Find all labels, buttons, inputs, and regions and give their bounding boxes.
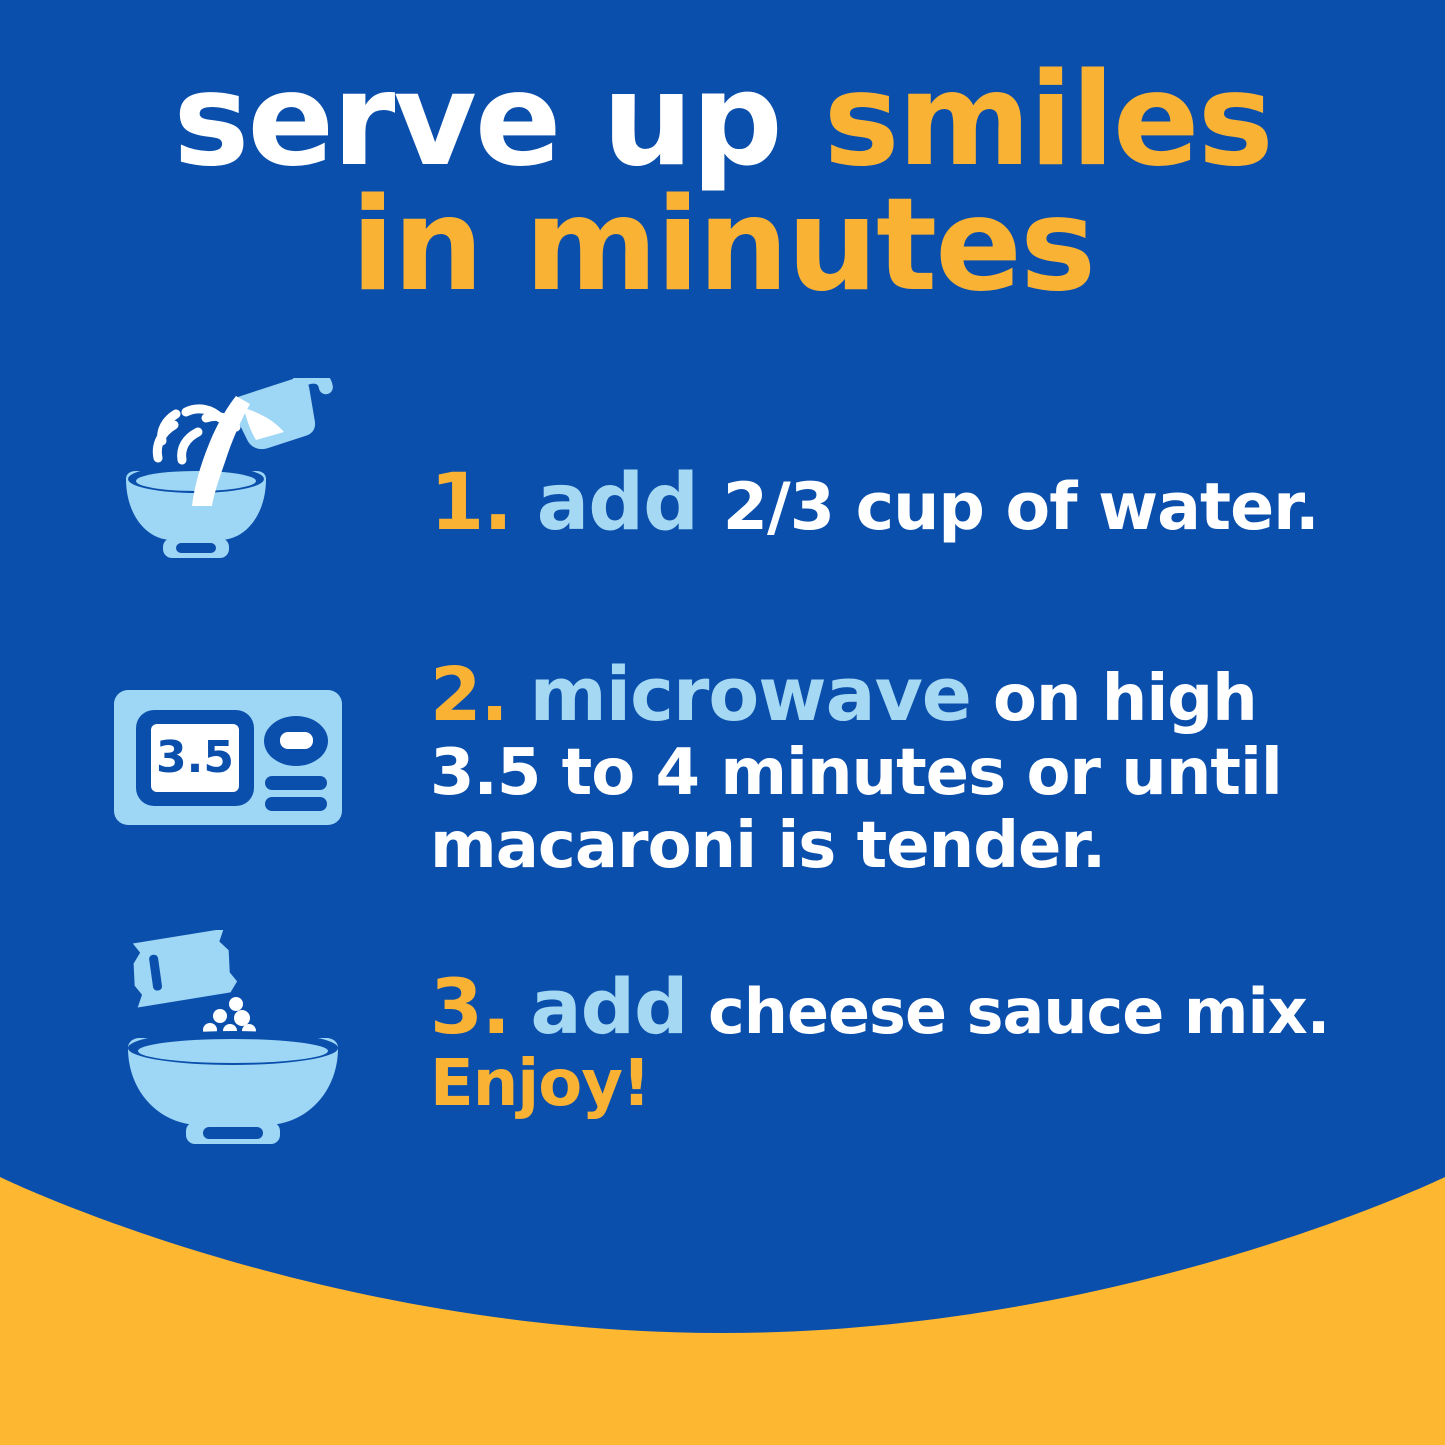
- step-1: 1. add 2/3 cup of water.: [0, 378, 1445, 593]
- page-title: serve up smiles in minutes: [0, 58, 1445, 309]
- headline-line-2: in minutes: [0, 183, 1445, 308]
- bottom-yellow-wave: [0, 1145, 1445, 1445]
- step-3-tail: Enjoy!: [430, 1047, 650, 1121]
- step-1-text: 1. add 2/3 cup of water.: [430, 462, 1390, 545]
- step-3-text: 3. add cheese sauce mix. Enjoy!: [430, 965, 1370, 1119]
- recipe-instructions-poster: serve up smiles in minutes: [0, 0, 1445, 1445]
- cheese-packet-over-bowl-icon: [118, 930, 353, 1149]
- step-1-rest: 2/3 cup of water.: [723, 470, 1319, 545]
- step-2-verb: microwave: [530, 652, 971, 738]
- headline-line-1: serve up smiles: [0, 58, 1445, 183]
- step-1-number: 1.: [430, 458, 512, 548]
- step-3-verb: add: [530, 962, 687, 1051]
- step-2-number: 2.: [430, 652, 508, 738]
- step-2-text: 2. microwave on high 3.5 to 4 minutes or…: [430, 655, 1360, 882]
- step-1-verb: add: [537, 458, 698, 548]
- microwave-display-value: 3.5: [156, 732, 234, 783]
- pouring-water-into-bowl-icon: [108, 378, 358, 582]
- step-3: 3. add cheese sauce mix. Enjoy!: [0, 930, 1445, 1160]
- microwave-icon: 3.5: [110, 680, 350, 844]
- step-3-number: 3.: [430, 962, 510, 1051]
- step-3-rest: cheese sauce mix.: [708, 975, 1329, 1048]
- step-2: 3.5 2. microwave on high 3.5 to 4 minute…: [0, 655, 1445, 905]
